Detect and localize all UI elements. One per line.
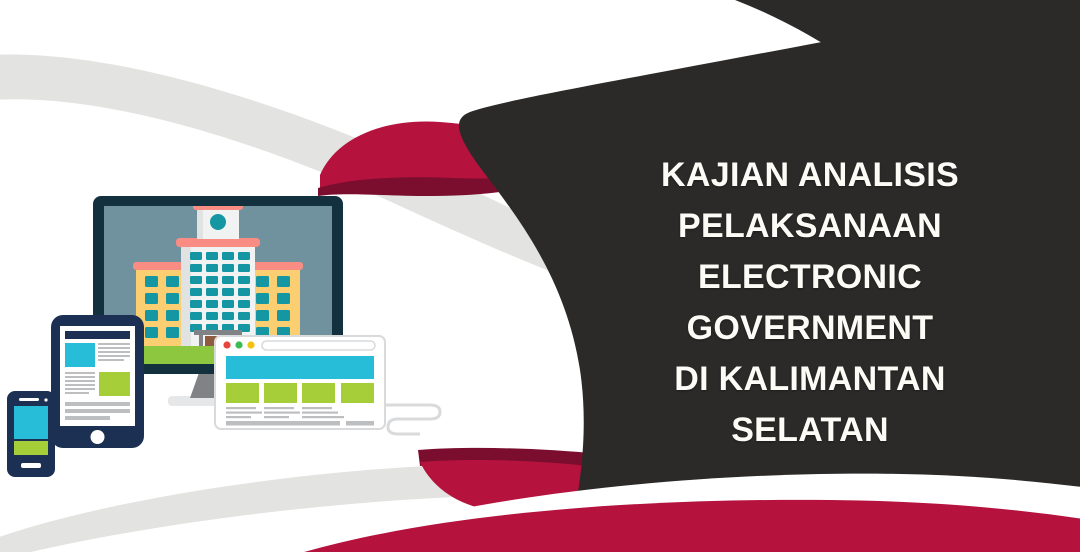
browser-window-icon [215,336,440,434]
building-entrance-canopy [194,330,242,335]
tablet-cyan-block [65,343,95,367]
building-tower-roof [176,238,260,247]
browser-cable [382,405,440,434]
title-line-5: DI KALIMANTAN [600,354,1020,405]
phone-screen-green [14,441,48,455]
title-line-2: PELAKSANAAN [600,201,1020,252]
title-line-3: ELECTRONIC [600,252,1020,303]
title-line-4: GOVERNMENT [600,303,1020,354]
smartphone-icon [7,391,55,477]
tablet-home-button[interactable] [91,430,105,444]
slide-canvas: KAJIAN ANALISIS PELAKSANAAN ELECTRONIC G… [0,0,1080,552]
browser-text-lines [226,407,344,418]
browser-maximize-dot-icon[interactable] [235,341,242,348]
building-clock-tower-shade [197,208,203,239]
building-tower-shade [181,245,191,346]
title-line-6: SELATAN [600,405,1020,456]
building-entrance-pillar-left [199,335,203,346]
browser-banner [226,356,374,379]
e-government-devices-illustration [0,0,560,552]
browser-minimize-dot-icon[interactable] [247,341,254,348]
phone-speaker [19,398,39,401]
building-flag [196,176,217,194]
slide-title: KAJIAN ANALISIS PELAKSANAAN ELECTRONIC G… [600,150,1020,456]
title-line-1: KAJIAN ANALISIS [600,150,1020,201]
tablet-icon [51,315,144,448]
building-clock-face [210,214,226,230]
phone-screen-cyan [14,406,48,439]
browser-footer-bar-left [226,421,340,426]
browser-footer-bar-right [346,421,374,426]
browser-close-dot-icon[interactable] [223,341,230,348]
phone-home-button[interactable] [21,463,41,468]
browser-url-bar[interactable] [262,341,375,350]
tablet-green-block [99,372,130,396]
phone-camera-icon [44,398,47,401]
tablet-header-bar [65,331,130,339]
